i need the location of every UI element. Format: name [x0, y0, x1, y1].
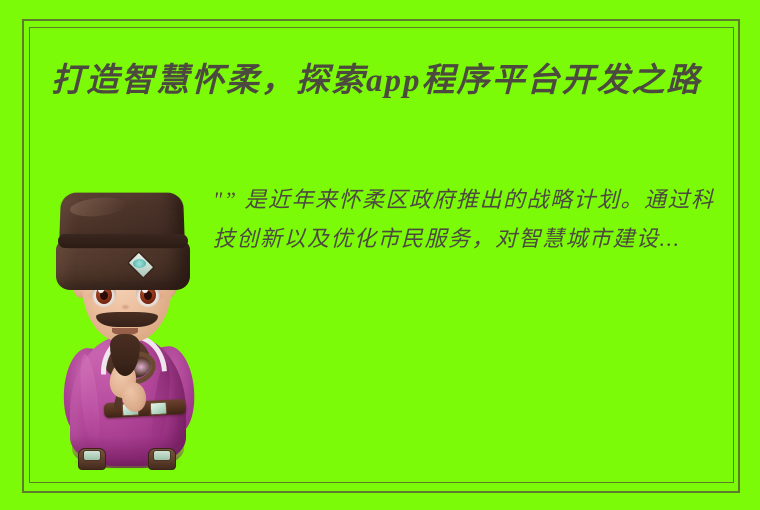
shoe-cap-left	[83, 450, 101, 461]
hat-jade-ornament-core	[133, 259, 146, 268]
article-card: 打造智慧怀柔，探索app程序平台开发之路 "” 是近年来怀柔区政府推出的战略计划…	[0, 0, 760, 510]
nose	[121, 304, 130, 310]
article-title[interactable]: 打造智慧怀柔，探索app程序平台开发之路	[51, 58, 731, 105]
belt-jade-plaque-right	[150, 402, 168, 416]
shoe-cap-right	[153, 450, 171, 461]
mustache	[96, 312, 158, 327]
article-summary: "” 是近年来怀柔区政府推出的战略计划。通过科技创新以及优化市民服务，对智慧城市…	[213, 180, 725, 258]
character-illustration	[48, 186, 206, 481]
official-hat-rim	[58, 234, 188, 248]
